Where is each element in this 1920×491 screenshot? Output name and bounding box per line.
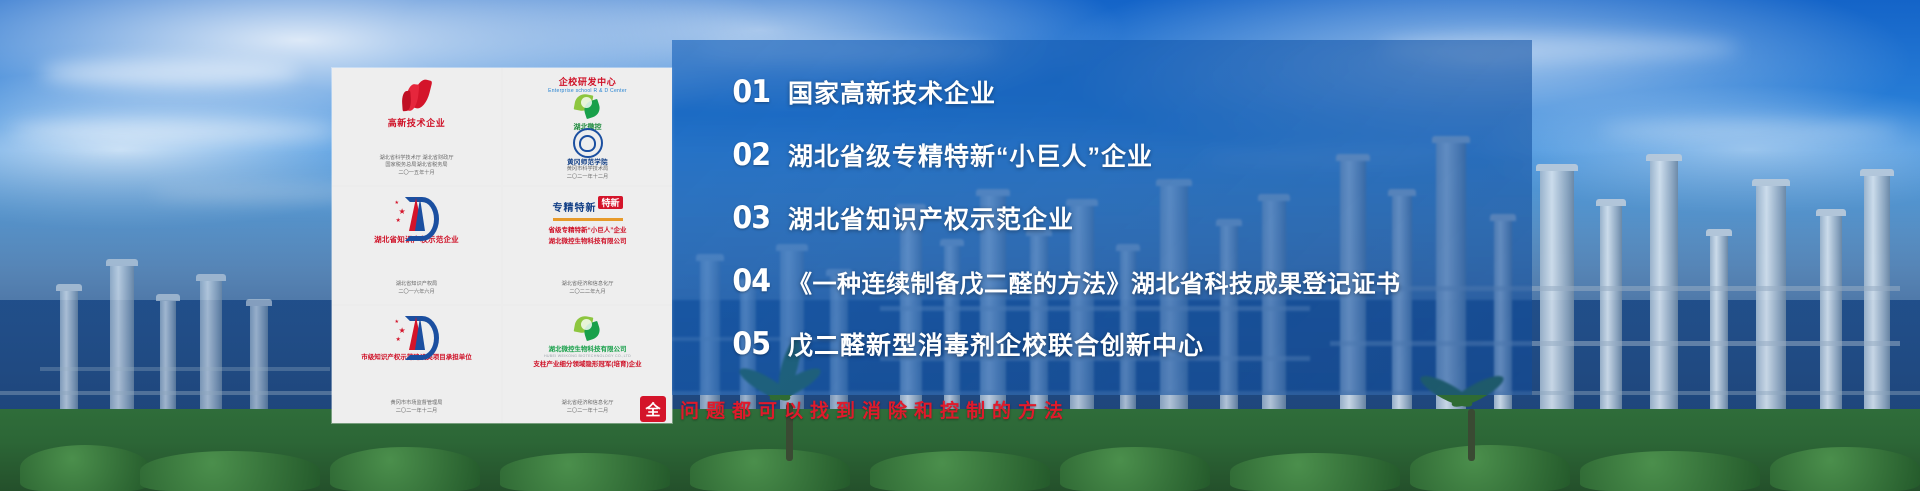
achievement-text: 湖北省知识产权示范企业: [788, 200, 1074, 236]
achievement-row[interactable]: 02 湖北省级专精特新“小巨人”企业: [730, 137, 1153, 173]
certificate-issuer: 黄冈市科学技术局 二〇二一年十二月: [567, 166, 609, 184]
achievement-row[interactable]: 04 《一种连续制备戊二醛的方法》湖北省科技成果登记证书: [730, 263, 1401, 299]
certificate-title: 湖北微控生物科技有限公司: [549, 346, 627, 354]
achievement-number: 04: [732, 263, 785, 299]
certificate-issuer: 湖北省知识产权局 二〇一六年六月: [396, 281, 438, 299]
achievement-number: 01: [732, 74, 785, 110]
achievement-text: 国家高新技术企业: [788, 74, 996, 110]
flame-icon: [402, 76, 432, 116]
texin-badge: 特新: [598, 196, 622, 209]
certificate-subtitle: 支柱产业细分领域隐形冠军(培育)企业: [533, 361, 641, 369]
green-leaf-icon: [573, 94, 603, 120]
marquee-strip: 全 问题都可以找到消除和控制的方法: [640, 392, 1340, 426]
certificate-subtitle: 省级专精特新“小巨人”企业: [549, 227, 627, 235]
zhuanjing-label: 专精特新: [553, 199, 597, 214]
zhuanjing-texin-icon: 专精特新 特新: [553, 195, 623, 225]
certificate-issuer: 黄冈市市场监督管理局 二〇二一年十二月: [391, 400, 443, 418]
certificate-grid: 高新技术企业 湖北省科学技术厅 湖北省财政厅 国家税务总局湖北省税务局 二〇一五…: [332, 68, 672, 423]
certificate-card[interactable]: ★★★ 市级知识产权示范建设类项目承担单位 黄冈市市场监督管理局 二〇二一年十二…: [332, 306, 501, 423]
university-seal-icon: [573, 132, 603, 154]
achievement-text: 戊二醛新型消毒剂企校联合创新中心: [788, 326, 1204, 362]
certificate-title: 高新技术企业: [388, 118, 446, 129]
banner-stage: 高新技术企业 湖北省科学技术厅 湖北省财政厅 国家税务总局湖北省税务局 二〇一五…: [0, 0, 1920, 491]
certificate-issuer: 湖北省科学技术厅 湖北省财政厅 国家税务总局湖北省税务局 二〇一五年十月: [379, 155, 453, 180]
sail-star-icon: ★★★: [395, 195, 439, 233]
certificate-card[interactable]: ★★★ 湖北省知识产权示范企业 湖北省知识产权局 二〇一六年六月: [332, 187, 501, 304]
marquee-badge: 全: [640, 396, 666, 422]
certificate-title-en: HUBEI WEIKONG BIOTECHNOLOGY CO.,LTD: [544, 354, 631, 358]
certificate-issuer: 湖北省经济和信息化厅 二〇二二年九月: [562, 281, 614, 299]
sail-star-icon: ★★★: [395, 314, 439, 352]
achievement-text: 《一种连续制备戊二醛的方法》湖北省科技成果登记证书: [788, 264, 1401, 299]
certificate-title: 企校研发中心: [559, 77, 617, 88]
achievement-number: 02: [732, 137, 785, 173]
marquee-text: 问题都可以找到消除和控制的方法: [680, 396, 1070, 423]
certificate-card[interactable]: 高新技术企业 湖北省科学技术厅 湖北省财政厅 国家税务总局湖北省税务局 二〇一五…: [332, 68, 501, 185]
green-leaf-icon: [573, 314, 603, 344]
certificate-issuer: 湖北省经济和信息化厅 二〇二一年十二月: [562, 400, 614, 418]
achievement-number: 05: [732, 326, 785, 362]
achievement-row[interactable]: 01 国家高新技术企业: [730, 74, 996, 110]
achievements-panel: 01 国家高新技术企业 02 湖北省级专精特新“小巨人”企业 03 湖北省知识产…: [672, 40, 1532, 395]
achievement-row[interactable]: 03 湖北省知识产权示范企业: [730, 200, 1074, 236]
certificate-card[interactable]: 企校研发中心 Enterprise school R & D Center 湖北…: [503, 68, 672, 185]
achievement-row[interactable]: 05 戊二醛新型消毒剂企校联合创新中心: [730, 326, 1204, 362]
certificate-card[interactable]: 专精特新 特新 省级专精特新“小巨人”企业 湖北微控生物科技有限公司 湖北省经济…: [503, 187, 672, 304]
certificate-subtitle-2: 湖北微控生物科技有限公司: [549, 238, 627, 246]
achievement-text: 湖北省级专精特新“小巨人”企业: [788, 137, 1153, 173]
achievement-number: 03: [732, 200, 785, 236]
